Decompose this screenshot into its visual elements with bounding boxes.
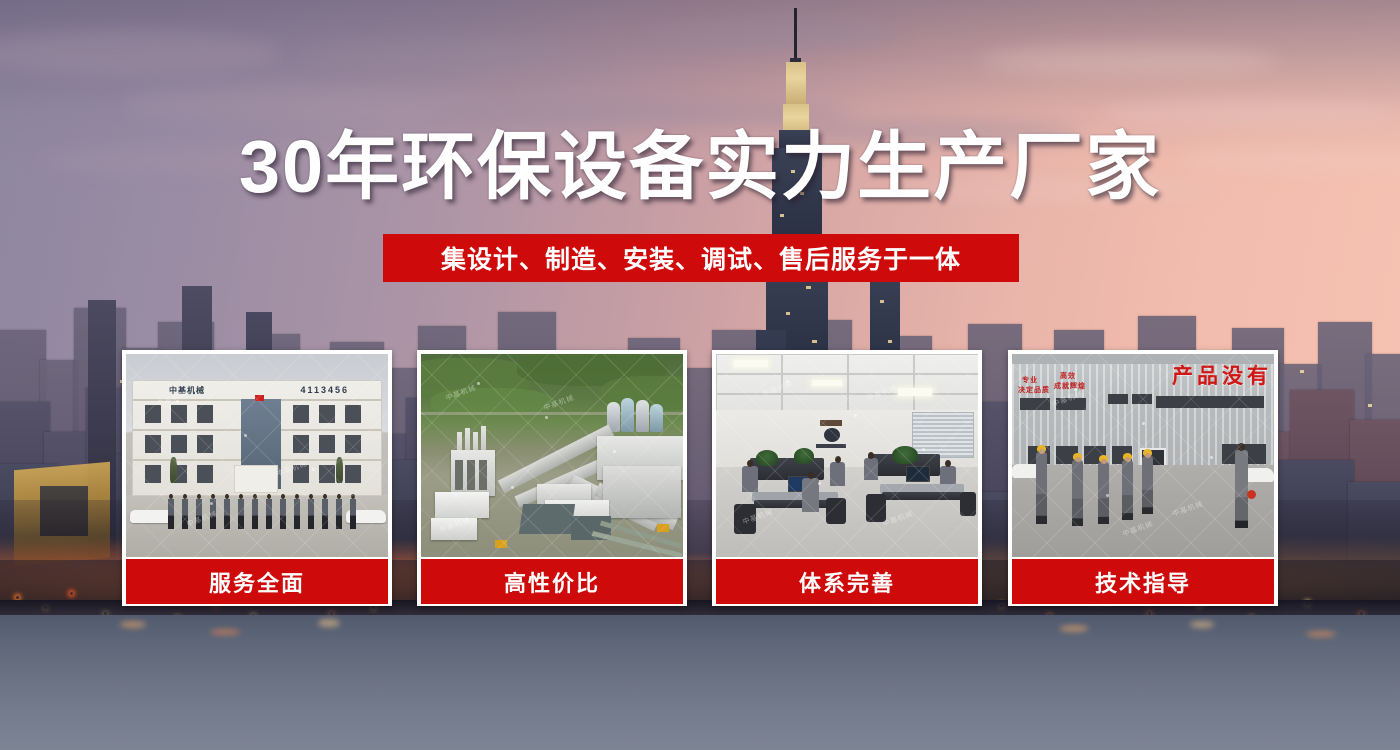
card-3-caption: 体系完善 (799, 566, 895, 598)
feature-card-2[interactable]: 中基机械 中基机械 中基机械 高性价比 (417, 350, 687, 606)
promo-banner: 30年环保设备实力生产厂家 集设计、制造、安装、调试、售后服务于一体 中基机械 … (0, 0, 1400, 750)
card-4-caption-bar: 技术指导 (1012, 559, 1274, 604)
card-3-photo: 中基机械 中基机械 中基机械 中基机械 (716, 354, 978, 557)
factory-wall-slogan: 产品没有 (1172, 360, 1272, 390)
card-1-caption: 服务全面 (209, 566, 305, 598)
river-water (0, 615, 1400, 750)
subtitle-text: 集设计、制造、安装、调试、售后服务于一体 (441, 240, 961, 276)
card-2-caption: 高性价比 (504, 566, 600, 598)
factory-wall-small-2: 高效 (1060, 372, 1076, 383)
subtitle-banner: 集设计、制造、安装、调试、售后服务于一体 (383, 234, 1019, 282)
factory-wall-small-3: 决定品质 (1018, 386, 1050, 397)
feature-card-3[interactable]: 中基机械 中基机械 中基机械 中基机械 体系完善 (712, 350, 982, 606)
card-1-caption-bar: 服务全面 (126, 559, 388, 604)
card-2-caption-bar: 高性价比 (421, 559, 683, 604)
card-4-photo: 产品没有 专业 决定品质 高效 成就辉煌 (1012, 354, 1274, 557)
factory-wall-small-1: 专业 (1022, 376, 1038, 387)
feature-card-row: 中基机械 4113456 (122, 350, 1278, 606)
feature-card-1[interactable]: 中基机械 4113456 (122, 350, 392, 606)
card-4-caption: 技术指导 (1095, 566, 1191, 598)
page-title: 30年环保设备实力生产厂家 (0, 128, 1400, 206)
feature-card-4[interactable]: 产品没有 专业 决定品质 高效 成就辉煌 (1008, 350, 1278, 606)
card-3-caption-bar: 体系完善 (716, 559, 978, 604)
card-2-photo: 中基机械 中基机械 中基机械 (421, 354, 683, 557)
card-1-photo: 中基机械 4113456 (126, 354, 388, 557)
